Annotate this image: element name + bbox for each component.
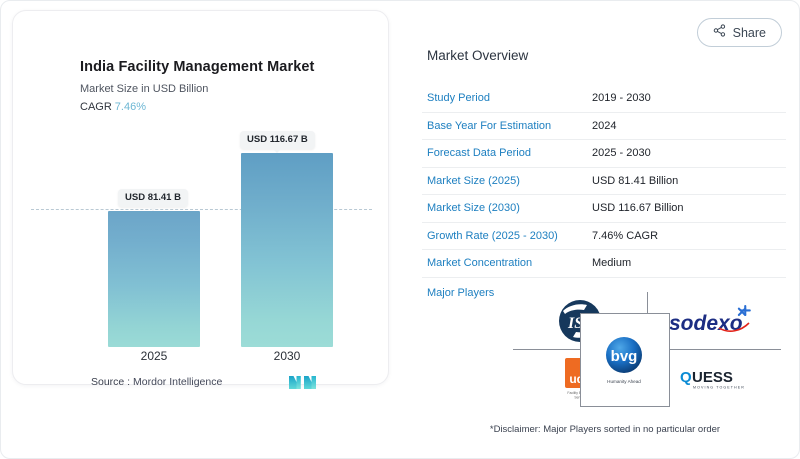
table-row: Growth Rate (2025 - 2030) 7.46% CAGR xyxy=(422,223,786,251)
row-value: 2025 - 2030 xyxy=(592,147,651,159)
source-label: Source : xyxy=(91,376,130,388)
row-value: USD 81.41 Billion xyxy=(592,175,678,187)
major-players-logo-grid: ISS sodexo xyxy=(513,292,781,407)
row-key: Study Period xyxy=(422,92,592,104)
row-value: 2019 - 2030 xyxy=(592,92,651,104)
market-report-screenshot: India Facility Management Market Market … xyxy=(0,0,800,459)
bar-2030[interactable] xyxy=(241,153,333,347)
row-key: Base Year For Estimation xyxy=(422,120,592,132)
disclaimer-text: *Disclaimer: Major Players sorted in no … xyxy=(425,424,785,435)
logo-cell-bvg: bvg Humanity Ahead xyxy=(580,313,670,407)
chart-card: India Facility Management Market Market … xyxy=(12,10,389,385)
row-key: Market Size (2030) xyxy=(422,202,592,214)
bvg-logo: bvg Humanity Ahead xyxy=(598,331,652,389)
mordor-intelligence-logo xyxy=(289,374,317,389)
row-value: Medium xyxy=(592,257,631,269)
table-row: Forecast Data Period 2025 - 2030 xyxy=(422,140,786,168)
row-key: Forecast Data Period xyxy=(422,147,592,159)
svg-text:UESS: UESS xyxy=(692,369,733,386)
row-key: Growth Rate (2025 - 2030) xyxy=(422,230,592,242)
row-value: USD 116.67 Billion xyxy=(592,202,684,214)
table-row: Market Size (2030) USD 116.67 Billion xyxy=(422,195,786,223)
table-row: Study Period 2019 - 2030 xyxy=(422,85,786,113)
share-button-label: Share xyxy=(733,26,766,40)
market-overview-table: Study Period 2019 - 2030 Base Year For E… xyxy=(422,85,786,308)
svg-text:Q: Q xyxy=(680,369,692,386)
share-nodes-icon xyxy=(713,24,726,42)
x-axis-tick-2025: 2025 xyxy=(108,349,200,363)
bar-label-2025: USD 81.41 B xyxy=(118,189,188,207)
sodexo-logo: sodexo xyxy=(667,304,761,338)
table-row: Market Concentration Medium xyxy=(422,250,786,278)
svg-text:MOVING TOGETHER: MOVING TOGETHER xyxy=(693,385,745,389)
source-name: Mordor Intelligence xyxy=(133,376,222,388)
bar-chart-plot: USD 81.41 B USD 116.67 B 2025 2030 xyxy=(13,11,390,386)
svg-text:Humanity Ahead: Humanity Ahead xyxy=(607,379,641,384)
source-line: Source : Mordor Intelligence xyxy=(91,376,222,388)
bar-label-2030: USD 116.67 B xyxy=(240,131,315,149)
row-key: Market Concentration xyxy=(422,257,592,269)
share-button[interactable]: Share xyxy=(697,18,782,47)
row-value: 2024 xyxy=(592,120,616,132)
table-row: Base Year For Estimation 2024 xyxy=(422,113,786,141)
table-row: Market Size (2025) USD 81.41 Billion xyxy=(422,168,786,196)
quess-logo: Q UESS MOVING TOGETHER xyxy=(679,367,749,391)
svg-text:bvg: bvg xyxy=(611,348,638,365)
bar-2025[interactable] xyxy=(108,211,200,347)
x-axis-tick-2030: 2030 xyxy=(241,349,333,363)
market-overview-title: Market Overview xyxy=(427,48,528,63)
row-value: 7.46% CAGR xyxy=(592,230,658,242)
row-key: Market Size (2025) xyxy=(422,175,592,187)
